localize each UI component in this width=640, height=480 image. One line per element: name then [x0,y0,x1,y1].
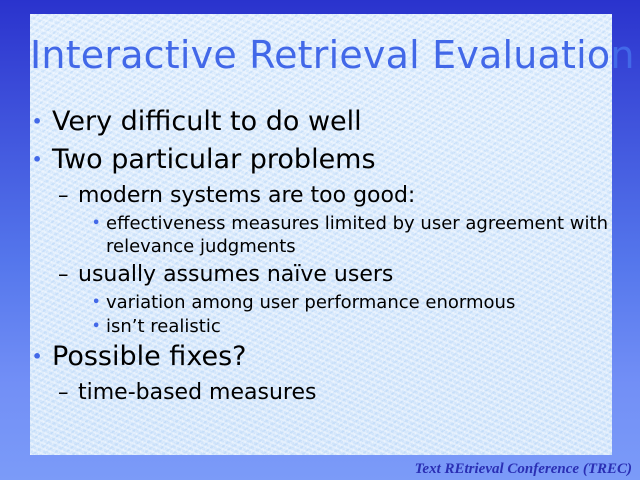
bullet-marker-icon: • [92,315,100,338]
bullet-item-level1: • Possible fixes? [30,339,614,374]
slide: Interactive Retrieval Evaluation • Very … [0,0,640,480]
bullet-text: time-based measures [78,377,316,408]
slide-footer: Text REtrieval Conference (TREC) [415,459,632,479]
bullet-text: isn’t realistic [106,315,614,338]
bullet-marker-icon: • [32,339,42,374]
bullet-text: Two particular problems [52,142,376,177]
bullet-marker-icon: • [92,212,100,235]
dash-marker-icon: – [58,377,69,408]
slide-title: Interactive Retrieval Evaluation [30,33,614,77]
bullet-item-level2: – usually assumes naïve users [30,259,614,290]
bullet-item-level2: – modern systems are too good: [30,180,614,211]
dash-marker-icon: – [58,259,69,290]
bullet-text: Very difficult to do well [52,104,362,139]
bullet-item-level3: • effectiveness measures limited by user… [30,212,614,258]
bullet-text: modern systems are too good: [78,180,415,211]
bullet-text: effectiveness measures limited by user a… [106,212,614,258]
slide-bullet-list: • Very difficult to do well • Two partic… [30,104,614,409]
bullet-marker-icon: • [92,291,100,314]
bullet-item-level2: – time-based measures [30,377,614,408]
bullet-marker-icon: • [32,142,42,177]
bullet-text: variation among user performance enormou… [106,291,614,314]
bullet-item-level1: • Very difficult to do well [30,104,614,139]
bullet-marker-icon: • [32,104,42,139]
bullet-item-level3: • isn’t realistic [30,315,614,338]
dash-marker-icon: – [58,180,69,211]
bullet-item-level3: • variation among user performance enorm… [30,291,614,314]
bullet-text: usually assumes naïve users [78,259,393,290]
bullet-text: Possible fixes? [52,339,246,374]
bullet-item-level1: • Two particular problems [30,142,614,177]
